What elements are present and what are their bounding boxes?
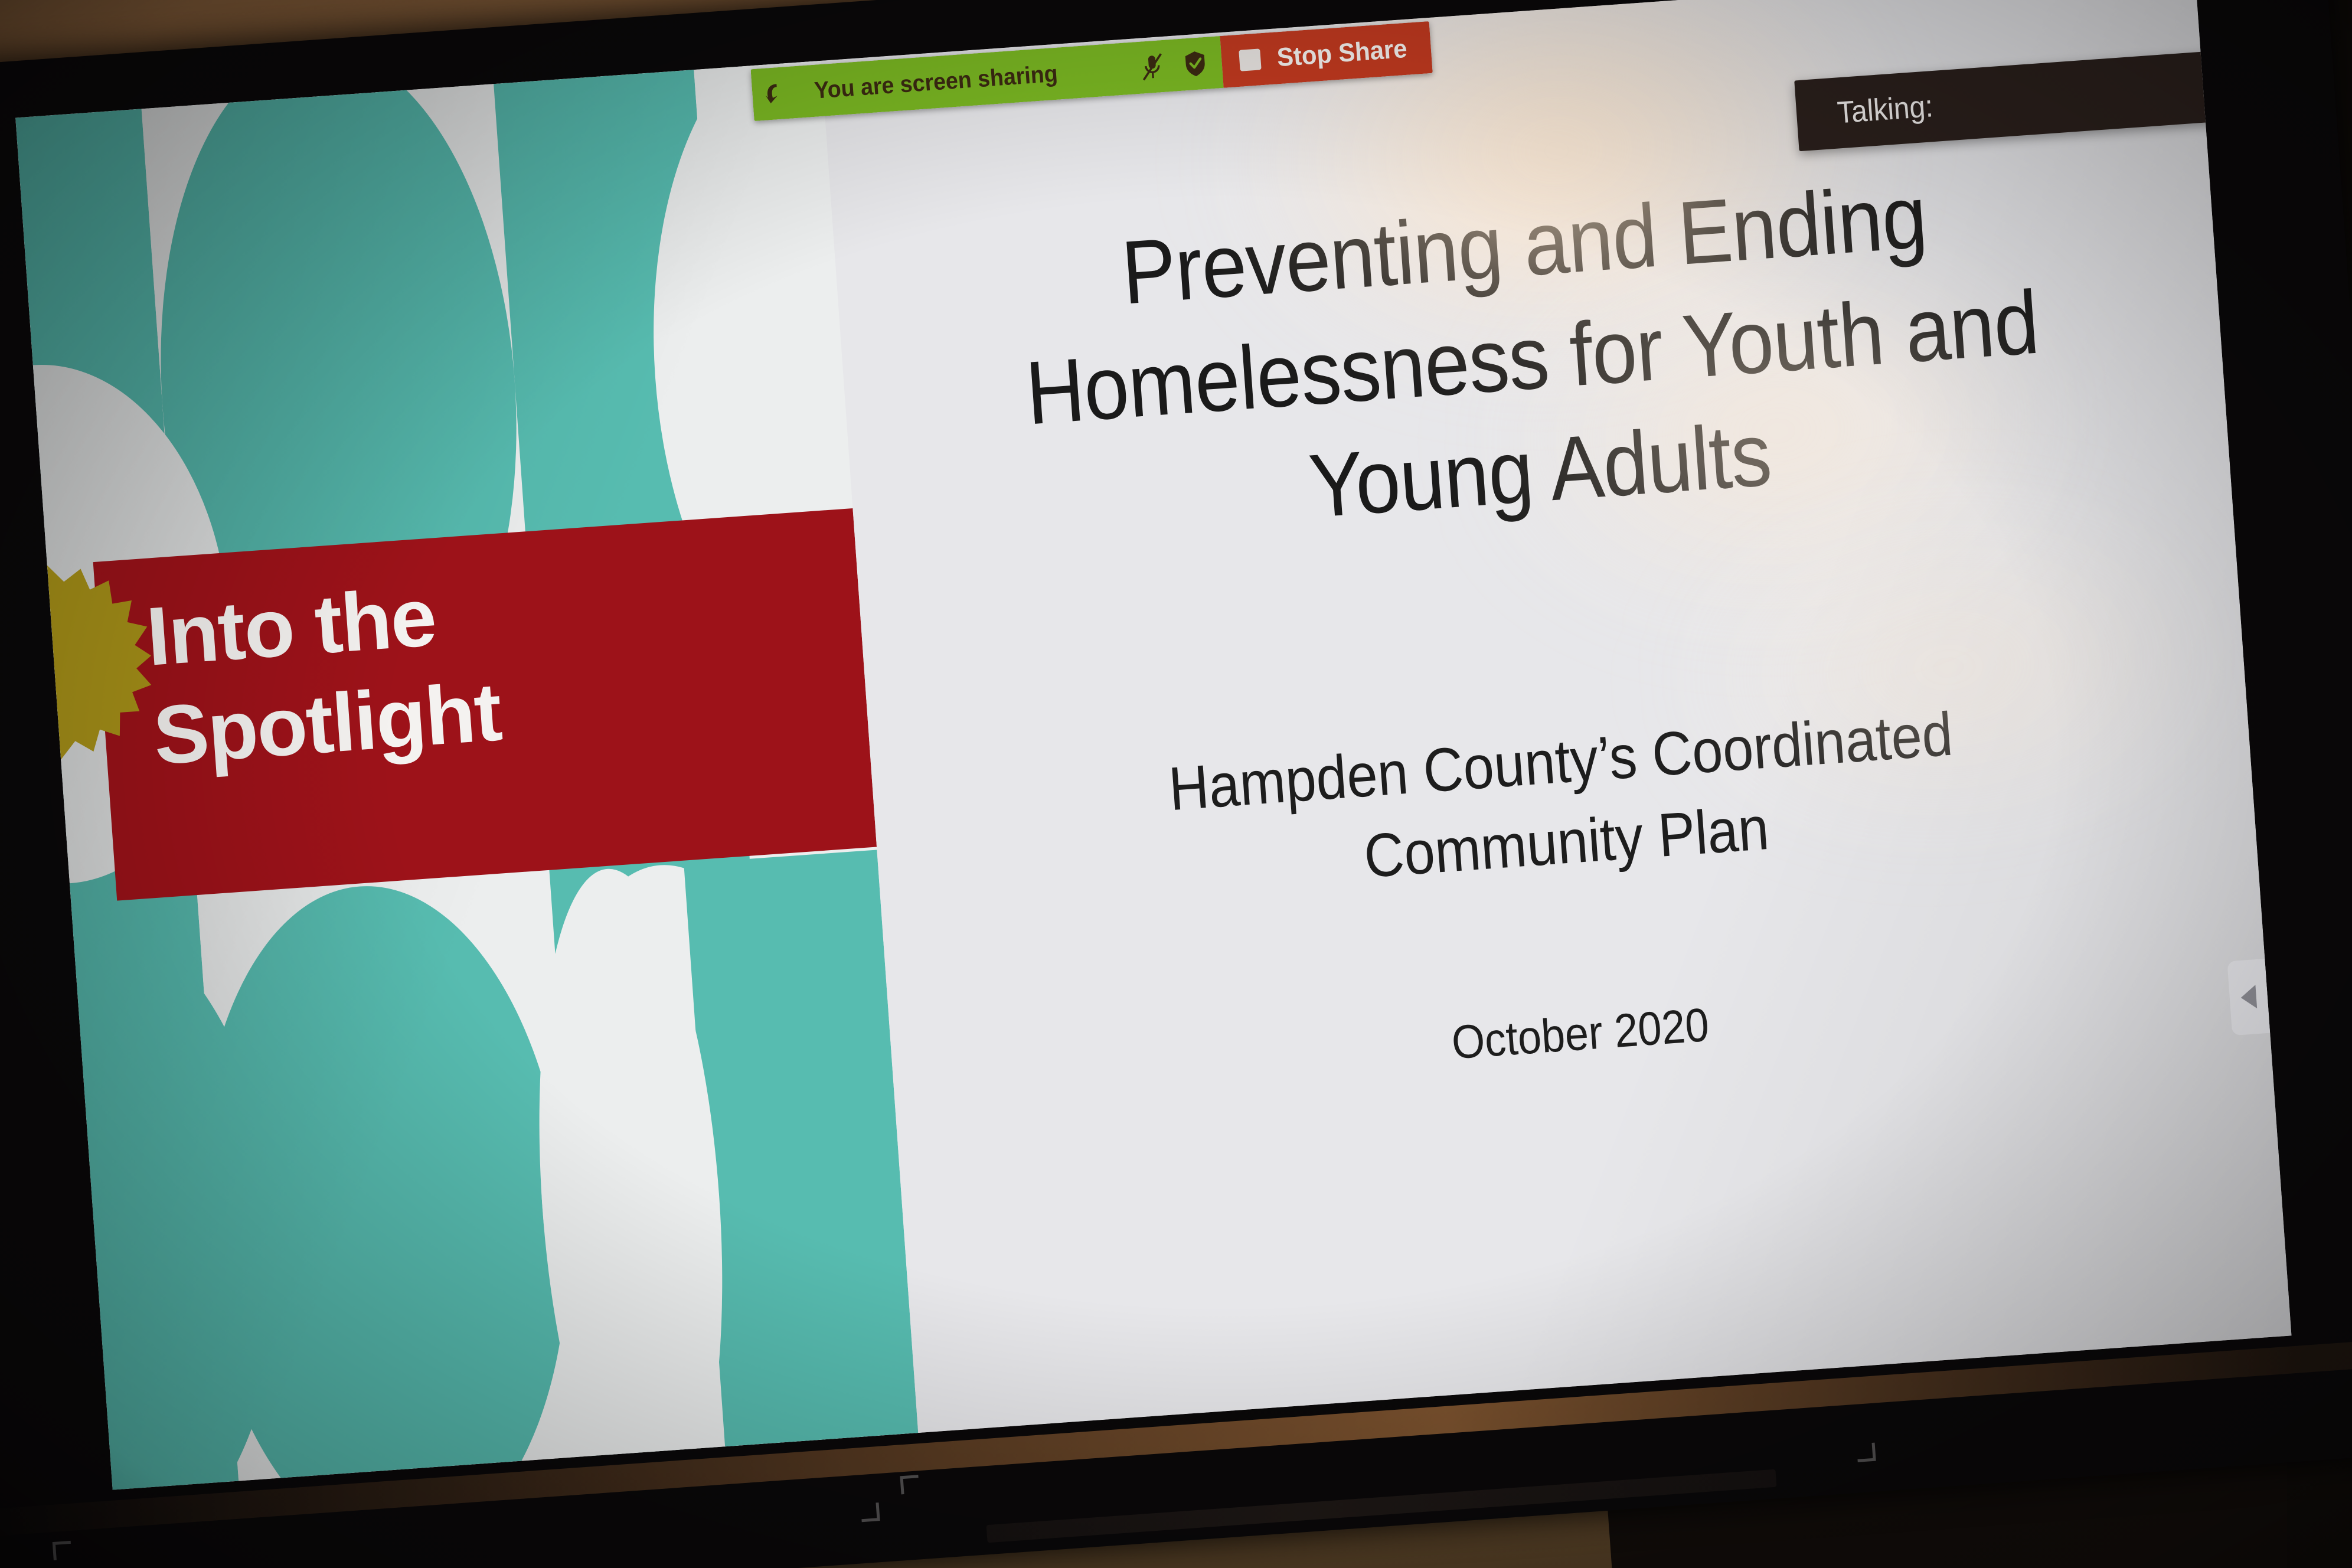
share-status-label: You are screen sharing xyxy=(814,60,1059,104)
logo-line-1: Into the xyxy=(144,575,438,680)
tv-mark xyxy=(900,1475,919,1494)
tv-mark xyxy=(861,1502,880,1522)
stop-square-icon xyxy=(1239,48,1262,71)
tv-screen: Into the Spotlight Preventing and Ending… xyxy=(15,0,2291,1490)
slide-date: October 2020 xyxy=(1450,998,1711,1070)
tv-mark xyxy=(1857,1443,1876,1462)
collapse-panel-tab[interactable] xyxy=(2227,959,2270,1035)
photo-scene: Into the Spotlight Preventing and Ending… xyxy=(0,0,2352,1568)
talking-label: Talking: xyxy=(1836,89,1934,130)
into-the-spotlight-logo: Into the Spotlight xyxy=(93,508,877,901)
share-arrow-icon xyxy=(762,80,784,108)
slide-content: Preventing and Ending Homelessness for Y… xyxy=(821,0,2292,1433)
logo-line-2: Spotlight xyxy=(151,669,504,778)
tv-mark xyxy=(53,1541,72,1560)
shield-check-icon[interactable] xyxy=(1184,50,1208,79)
slide-title: Preventing and Ending Homelessness for Y… xyxy=(1006,152,2058,563)
stop-share-label: Stop Share xyxy=(1276,34,1409,73)
microphone-muted-icon[interactable] xyxy=(1141,53,1164,81)
share-icon-group xyxy=(1141,50,1208,81)
collapse-left-triangle-icon xyxy=(2240,985,2257,1010)
slide-subtitle: Hampden County’s Coordinated Community P… xyxy=(1108,690,2020,915)
slide-decorative-panel: Into the Spotlight xyxy=(15,61,918,1490)
television: Into the Spotlight Preventing and Ending… xyxy=(0,0,2352,1568)
